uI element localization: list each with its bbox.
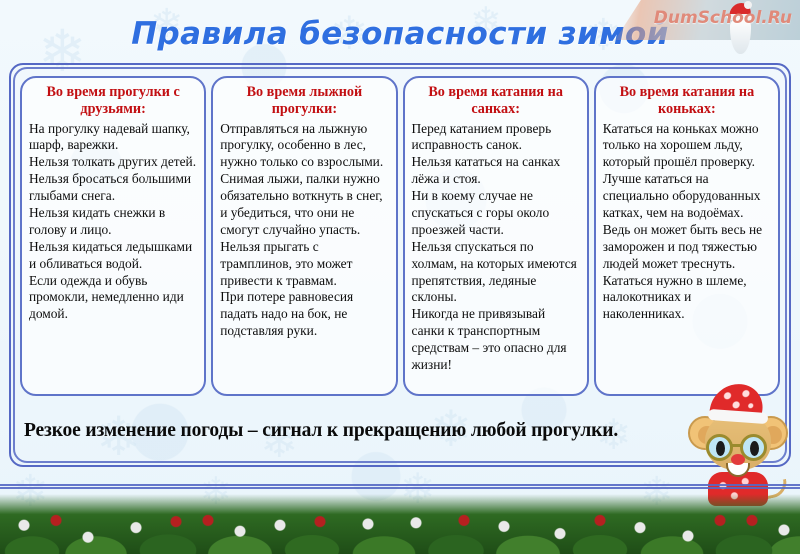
safety-card-sledding: Во время катания на санках: Перед катани… (403, 76, 589, 396)
card-title: Во время катания на санках: (412, 84, 580, 118)
fir-garland-decoration (0, 482, 800, 554)
card-title: Во время прогулки с друзьями: (29, 84, 197, 118)
winter-safety-poster: ❄ ❄ ❄ ❄ ❄ ❄ ❄ ❄ ❄ ❄ ❄ ❄ ❄ Правила безопа… (0, 0, 800, 554)
watermark-logo: DumSchool.Ru (615, 0, 800, 58)
card-body: Перед катанием проверь исправность санок… (412, 121, 580, 374)
card-body: Отправляться на лыжную прогулку, особенн… (220, 121, 388, 341)
garland-baubles (0, 494, 800, 554)
mouse-glasses-right (740, 434, 767, 461)
safety-card-skiing: Во время лыжной прогулки: Отправляться н… (211, 76, 397, 396)
summary-banner: Резкое изменение погоды – сигнал к прекр… (20, 404, 780, 458)
mouse-pupil (750, 441, 759, 456)
safety-rules-cards: Во время прогулки с друзьями: На прогулк… (20, 76, 780, 396)
safety-card-walking-with-friends: Во время прогулки с друзьями: На прогулк… (20, 76, 206, 396)
watermark-text: DumSchool.Ru (654, 8, 792, 28)
card-title: Во время лыжной прогулки: (220, 84, 388, 118)
card-body: Кататься на коньках можно только на хоро… (603, 121, 771, 324)
summary-banner-text: Резкое изменение погоды – сигнал к прекр… (20, 420, 618, 442)
card-body: На прогулку надевай шапку, шарф, варежки… (29, 121, 197, 324)
card-title: Во время катания на коньках: (603, 84, 771, 118)
safety-card-ice-skating: Во время катания на коньках: Кататься на… (594, 76, 780, 396)
mouse-pupil (716, 441, 725, 456)
garland-top-line (0, 484, 800, 489)
mouse-glasses-left (706, 434, 733, 461)
